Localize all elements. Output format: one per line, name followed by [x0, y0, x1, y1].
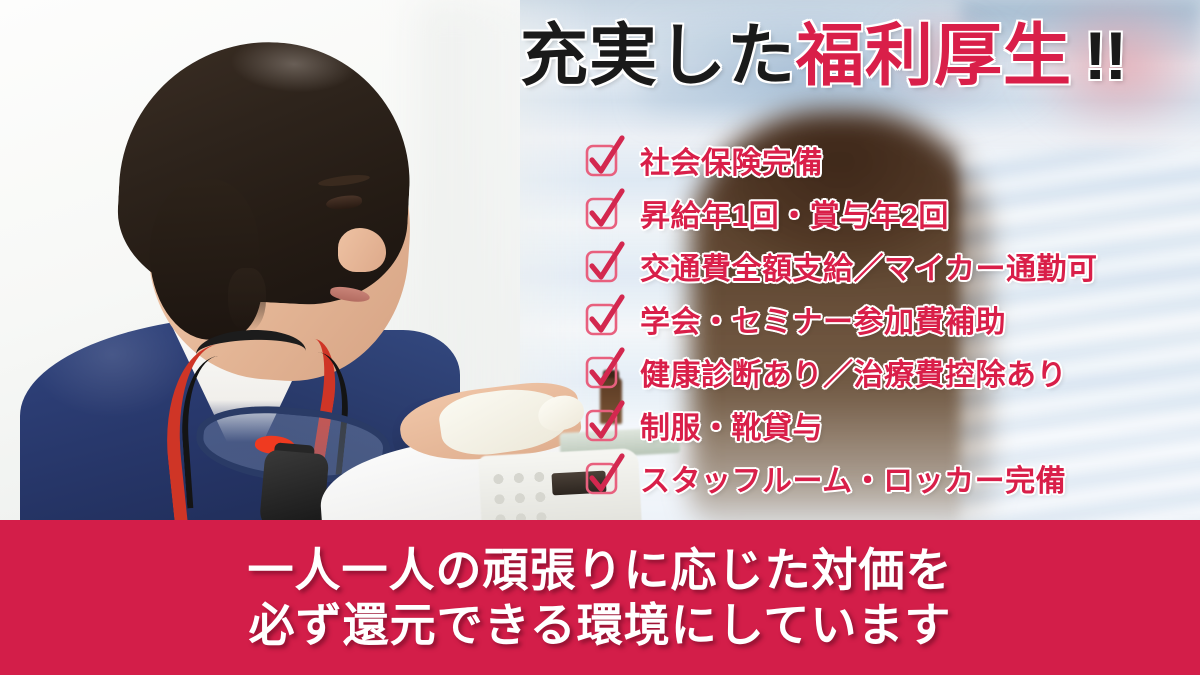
headline-plain: 充実した	[520, 18, 796, 94]
list-item: 制服・靴貸与	[584, 398, 1200, 451]
benefit-label: スタッフルーム・ロッカー完備	[640, 456, 1066, 500]
banner-line-2: 必ず還元できる環境にしています	[249, 598, 952, 652]
list-item: 交通費全額支給／マイカー通勤可	[584, 239, 1200, 292]
bottom-message-banner: 一人一人の頑張りに応じた対価を 必ず還元できる環境にしています	[0, 520, 1200, 675]
checkbox-checked-icon	[584, 196, 618, 230]
list-item: 社会保険完備	[584, 133, 1200, 186]
headline: 充実した福利厚生!!	[520, 22, 1125, 90]
overlay-content: 充実した福利厚生!! 社会保険完備	[0, 0, 1200, 530]
recruitment-poster: 充実した福利厚生!! 社会保険完備	[0, 0, 1200, 675]
benefit-label: 制服・靴貸与	[640, 403, 823, 447]
benefit-label: 昇給年1回・賞与年2回	[640, 191, 949, 235]
checkbox-checked-icon	[584, 461, 618, 495]
headline-highlight: 福利厚生	[796, 18, 1072, 94]
benefit-label: 学会・セミナー参加費補助	[640, 297, 1006, 341]
checkbox-checked-icon	[584, 408, 618, 442]
benefits-list: 社会保険完備 昇給年1回・賞与年2回 交通費	[584, 133, 1200, 504]
checkbox-checked-icon	[584, 302, 618, 336]
list-item: スタッフルーム・ロッカー完備	[584, 451, 1200, 504]
checkbox-checked-icon	[584, 143, 618, 177]
list-item: 昇給年1回・賞与年2回	[584, 186, 1200, 239]
list-item: 学会・セミナー参加費補助	[584, 292, 1200, 345]
headline-exclamation: !!	[1084, 18, 1125, 94]
benefit-label: 健康診断あり／治療費控除あり	[640, 350, 1067, 394]
checkbox-checked-icon	[584, 355, 618, 389]
benefit-label: 交通費全額支給／マイカー通勤可	[640, 244, 1098, 288]
banner-line-1: 一人一人の頑張りに応じた対価を	[248, 543, 953, 597]
benefit-label: 社会保険完備	[640, 138, 823, 182]
checkbox-checked-icon	[584, 249, 618, 283]
list-item: 健康診断あり／治療費控除あり	[584, 345, 1200, 398]
